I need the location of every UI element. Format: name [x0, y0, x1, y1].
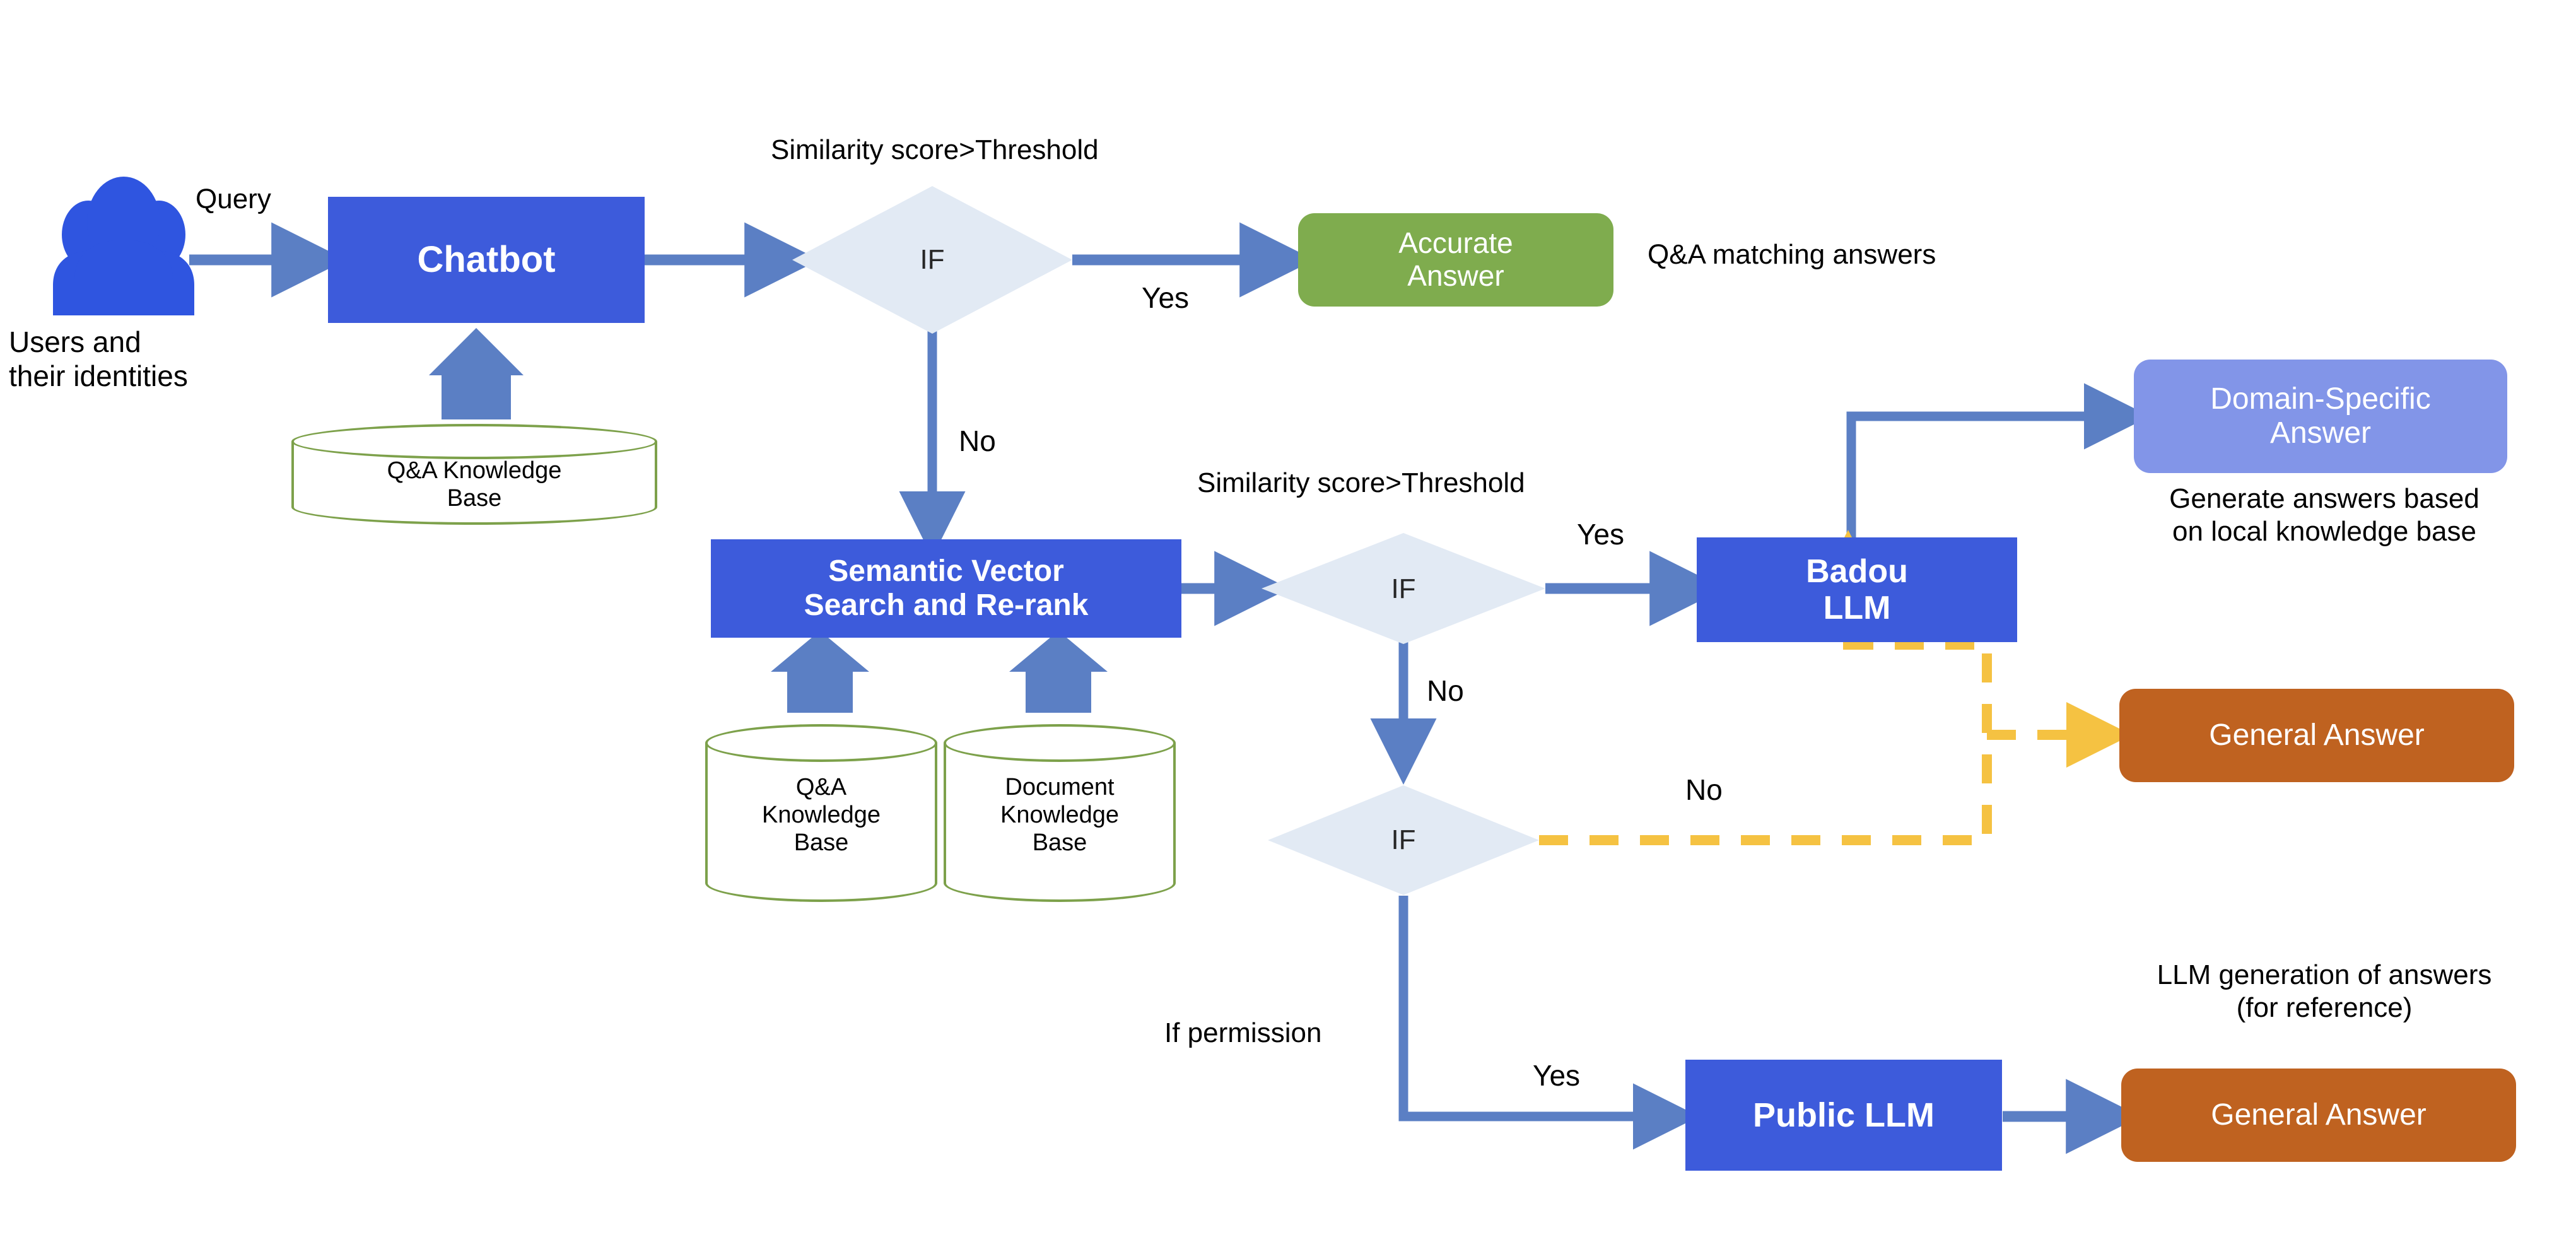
output-accurate-answer[interactable]: Accurate Answer — [1298, 213, 1613, 307]
edge-label-query: Query — [196, 183, 271, 216]
edge-label-no-bottom: No — [1685, 773, 1723, 807]
process-chatbot[interactable]: Chatbot — [328, 197, 645, 323]
datastore-qa-knowledge-base-mid[interactable]: Q&A Knowledge Base — [705, 724, 937, 902]
decision-if-bottom-label: IF — [1353, 820, 1454, 860]
edge-dockb-mid-to-semantic — [1009, 631, 1108, 713]
output-general-answer-bottom[interactable]: General Answer — [2121, 1069, 2516, 1162]
datastore-qa-kb-top-text: Q&A Knowledge Base — [291, 457, 657, 512]
process-chatbot-label: Chatbot — [417, 240, 555, 281]
annotation-qa-matching-answers: Q&A matching answers — [1648, 238, 1936, 271]
process-badou-llm[interactable]: Badou LLM — [1697, 537, 2017, 642]
edge-qakb-mid-to-semantic — [771, 631, 869, 713]
flowchart-canvas: Users and their identities Query Chatbot… — [0, 0, 2576, 1259]
edge-label-if-permission: If permission — [1164, 1017, 1321, 1050]
annotation-llm-generation: LLM generation of answers (for reference… — [2075, 959, 2573, 1024]
process-semantic-vector-search[interactable]: Semantic Vector Search and Re-rank — [711, 539, 1181, 638]
decision-if-top-label: IF — [882, 240, 983, 280]
cylinder-top-cap — [705, 724, 937, 762]
annotation-generate-local-knowledge: Generate answers based on local knowledg… — [2075, 483, 2573, 548]
users-caption: Users and their identities — [0, 325, 312, 394]
users-caption-line2: their identities — [9, 359, 188, 393]
users-group-icon — [53, 177, 194, 315]
users-caption-line1: Users and — [9, 325, 141, 359]
output-general-answer-right[interactable]: General Answer — [2119, 689, 2514, 782]
datastore-document-kb-text: Document Knowledge Base — [944, 773, 1176, 857]
cylinder-top-cap — [944, 724, 1176, 762]
process-public-llm[interactable]: Public LLM — [1685, 1060, 2002, 1171]
datastore-document-knowledge-base[interactable]: Document Knowledge Base — [944, 724, 1176, 902]
edge-label-yes-top: Yes — [1142, 281, 1189, 315]
cylinder-top-cap — [291, 424, 657, 459]
edge-label-similarity-top: Similarity score>Threshold — [771, 134, 1099, 167]
edge-label-similarity-mid: Similarity score>Threshold — [1197, 467, 1525, 500]
output-domain-specific-answer[interactable]: Domain-Specific Answer — [2134, 360, 2507, 473]
edge-label-yes-mid: Yes — [1577, 517, 1624, 551]
edge-label-no-top: No — [959, 424, 996, 458]
datastore-qa-knowledge-base-top[interactable]: Q&A Knowledge Base — [291, 424, 657, 525]
edge-label-no-mid: No — [1427, 674, 1464, 708]
edge-label-yes-bottom: Yes — [1533, 1058, 1580, 1092]
datastore-qa-kb-mid-text: Q&A Knowledge Base — [705, 773, 937, 857]
edge-qakb-to-chatbot — [429, 328, 524, 419]
decision-if-mid-label: IF — [1353, 569, 1454, 609]
